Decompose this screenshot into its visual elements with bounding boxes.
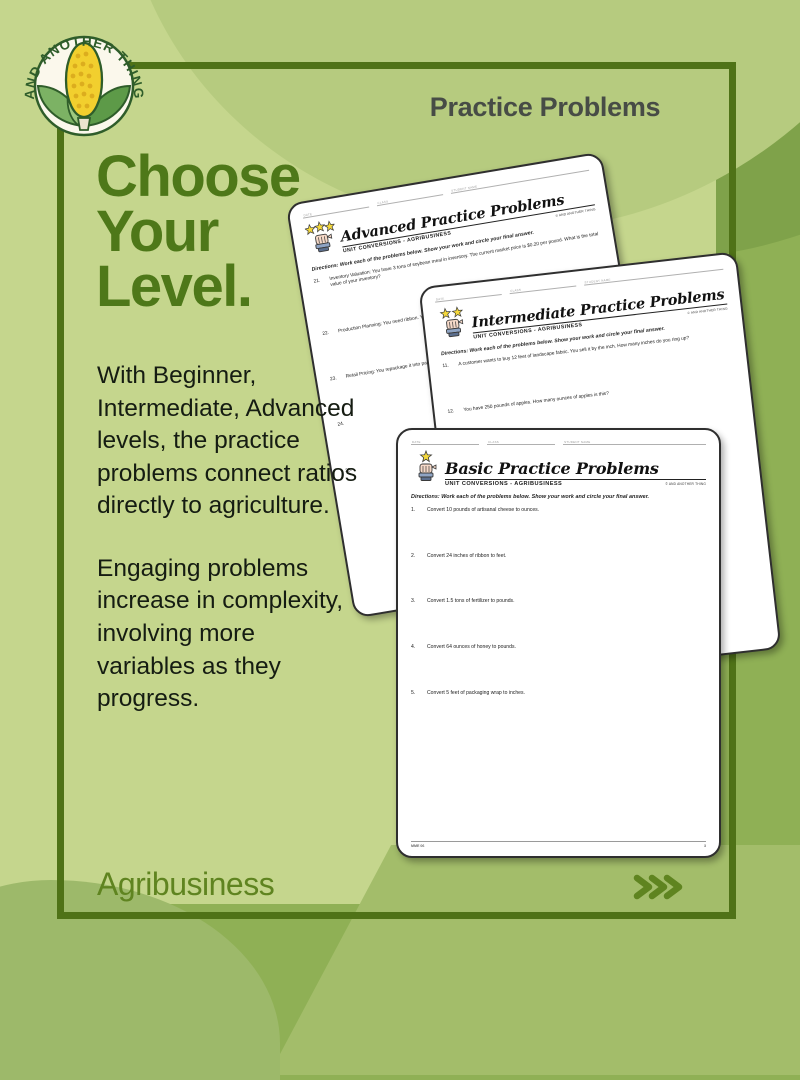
page-title: Practice Problems [380, 92, 710, 123]
worksheet-problem-list: 1. Convert 10 pounds of artisanal cheese… [411, 507, 706, 841]
mascot-one-star-icon [411, 450, 441, 487]
problem-item: 4. Convert 64 ounces of honey to pounds. [411, 644, 706, 651]
worksheet-directions: Directions: Work each of the problems be… [411, 494, 706, 500]
problem-item: 2. Convert 24 inches of ribbon to feet. [411, 553, 706, 560]
hero-line-1: Choose [96, 149, 346, 204]
field-class[interactable]: CLASS [487, 440, 555, 445]
hero-line-3: Level. [96, 259, 346, 314]
hero-heading: Choose Your Level. [96, 149, 346, 314]
problem-item: 5. Convert 5 feet of packaging wrap to i… [411, 690, 706, 697]
hero-line-2: Your [96, 204, 346, 259]
mascot-two-stars-icon [436, 304, 470, 344]
worksheet-fields: DATE CLASS STUDENT NAME [411, 440, 706, 445]
worksheet-title-rule [445, 479, 706, 480]
problem-item: 1. Convert 10 pounds of artisanal cheese… [411, 507, 706, 514]
worksheet-copyright: © AND ANOTHER THING [665, 482, 706, 486]
body-paragraph-2: Engaging problems increase in complexity… [97, 553, 359, 716]
problem-item: 3. Convert 1.5 tons of fertilizer to pou… [411, 598, 706, 605]
frame-border-top [57, 62, 736, 69]
body-copy: With Beginner, Intermediate, Advanced le… [97, 360, 359, 716]
problem-item: 12. You have 250 pounds of apples. How m… [447, 377, 736, 416]
worksheet-footer: MME 06 3 [411, 841, 706, 848]
field-date[interactable]: DATE [411, 440, 479, 445]
triple-chevron-right-icon [632, 872, 690, 902]
body-paragraph-1: With Beginner, Intermediate, Advanced le… [97, 360, 359, 523]
worksheet-subtitle: UNIT CONVERSIONS - AGRIBUSINESS [445, 481, 562, 487]
subject-label: Agribusiness [97, 866, 274, 903]
field-student-name[interactable]: STUDENT NAME [563, 440, 706, 445]
worksheet-card-basic[interactable]: DATE CLASS STUDENT NAME [396, 428, 721, 858]
brand-logo: AND ANOTHER THING [18, 14, 148, 142]
worksheet-page-number: 3 [704, 844, 706, 848]
worksheet-footer-code: MME 06 [411, 844, 424, 848]
worksheet-title: Basic Practice Problems [445, 461, 706, 477]
